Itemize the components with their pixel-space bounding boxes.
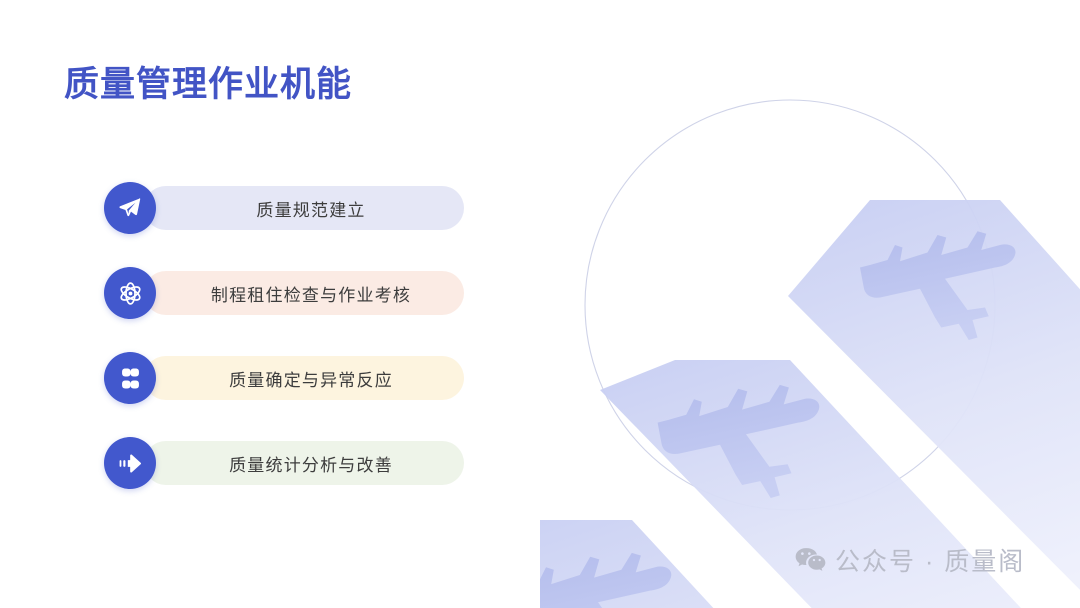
airplanes-in-circle-illustration <box>540 90 1080 608</box>
feature-pill[interactable]: 质量统计分析与改善 <box>144 441 464 485</box>
four-petals-icon <box>104 352 156 404</box>
airplane-bottom-left <box>540 553 671 608</box>
decorative-circle-outline <box>585 100 995 510</box>
feature-list: 质量规范建立 制程租住检查与作业考核 <box>104 182 464 489</box>
list-item[interactable]: 质量规范建立 <box>104 182 464 234</box>
atom-icon <box>104 267 156 319</box>
list-item-label: 质量规范建立 <box>256 196 365 221</box>
page-title: 质量管理作业机能 <box>64 63 352 107</box>
watermark: 公众号 · 质量阁 <box>795 542 1025 578</box>
feature-pill[interactable]: 制程租住检查与作业考核 <box>144 271 464 315</box>
feature-pill[interactable]: 质量确定与异常反应 <box>144 356 464 400</box>
wechat-icon <box>795 547 826 574</box>
airplane-top-right <box>860 231 1015 340</box>
slide-canvas: 质量管理作业机能 质量规范建立 <box>0 0 1080 608</box>
list-item-label: 质量统计分析与改善 <box>229 451 393 476</box>
paper-plane-icon <box>104 182 156 234</box>
list-item[interactable]: 质量确定与异常反应 <box>104 352 464 404</box>
arrow-right-icon <box>104 437 156 489</box>
feature-pill[interactable]: 质量规范建立 <box>144 186 464 230</box>
list-item-label: 制程租住检查与作业考核 <box>211 281 411 306</box>
list-item[interactable]: 制程租住检查与作业考核 <box>104 267 464 319</box>
watermark-text: 公众号 · 质量阁 <box>835 542 1025 578</box>
list-item-label: 质量确定与异常反应 <box>229 366 393 391</box>
airplane-middle <box>658 385 820 498</box>
list-item[interactable]: 质量统计分析与改善 <box>104 437 464 489</box>
